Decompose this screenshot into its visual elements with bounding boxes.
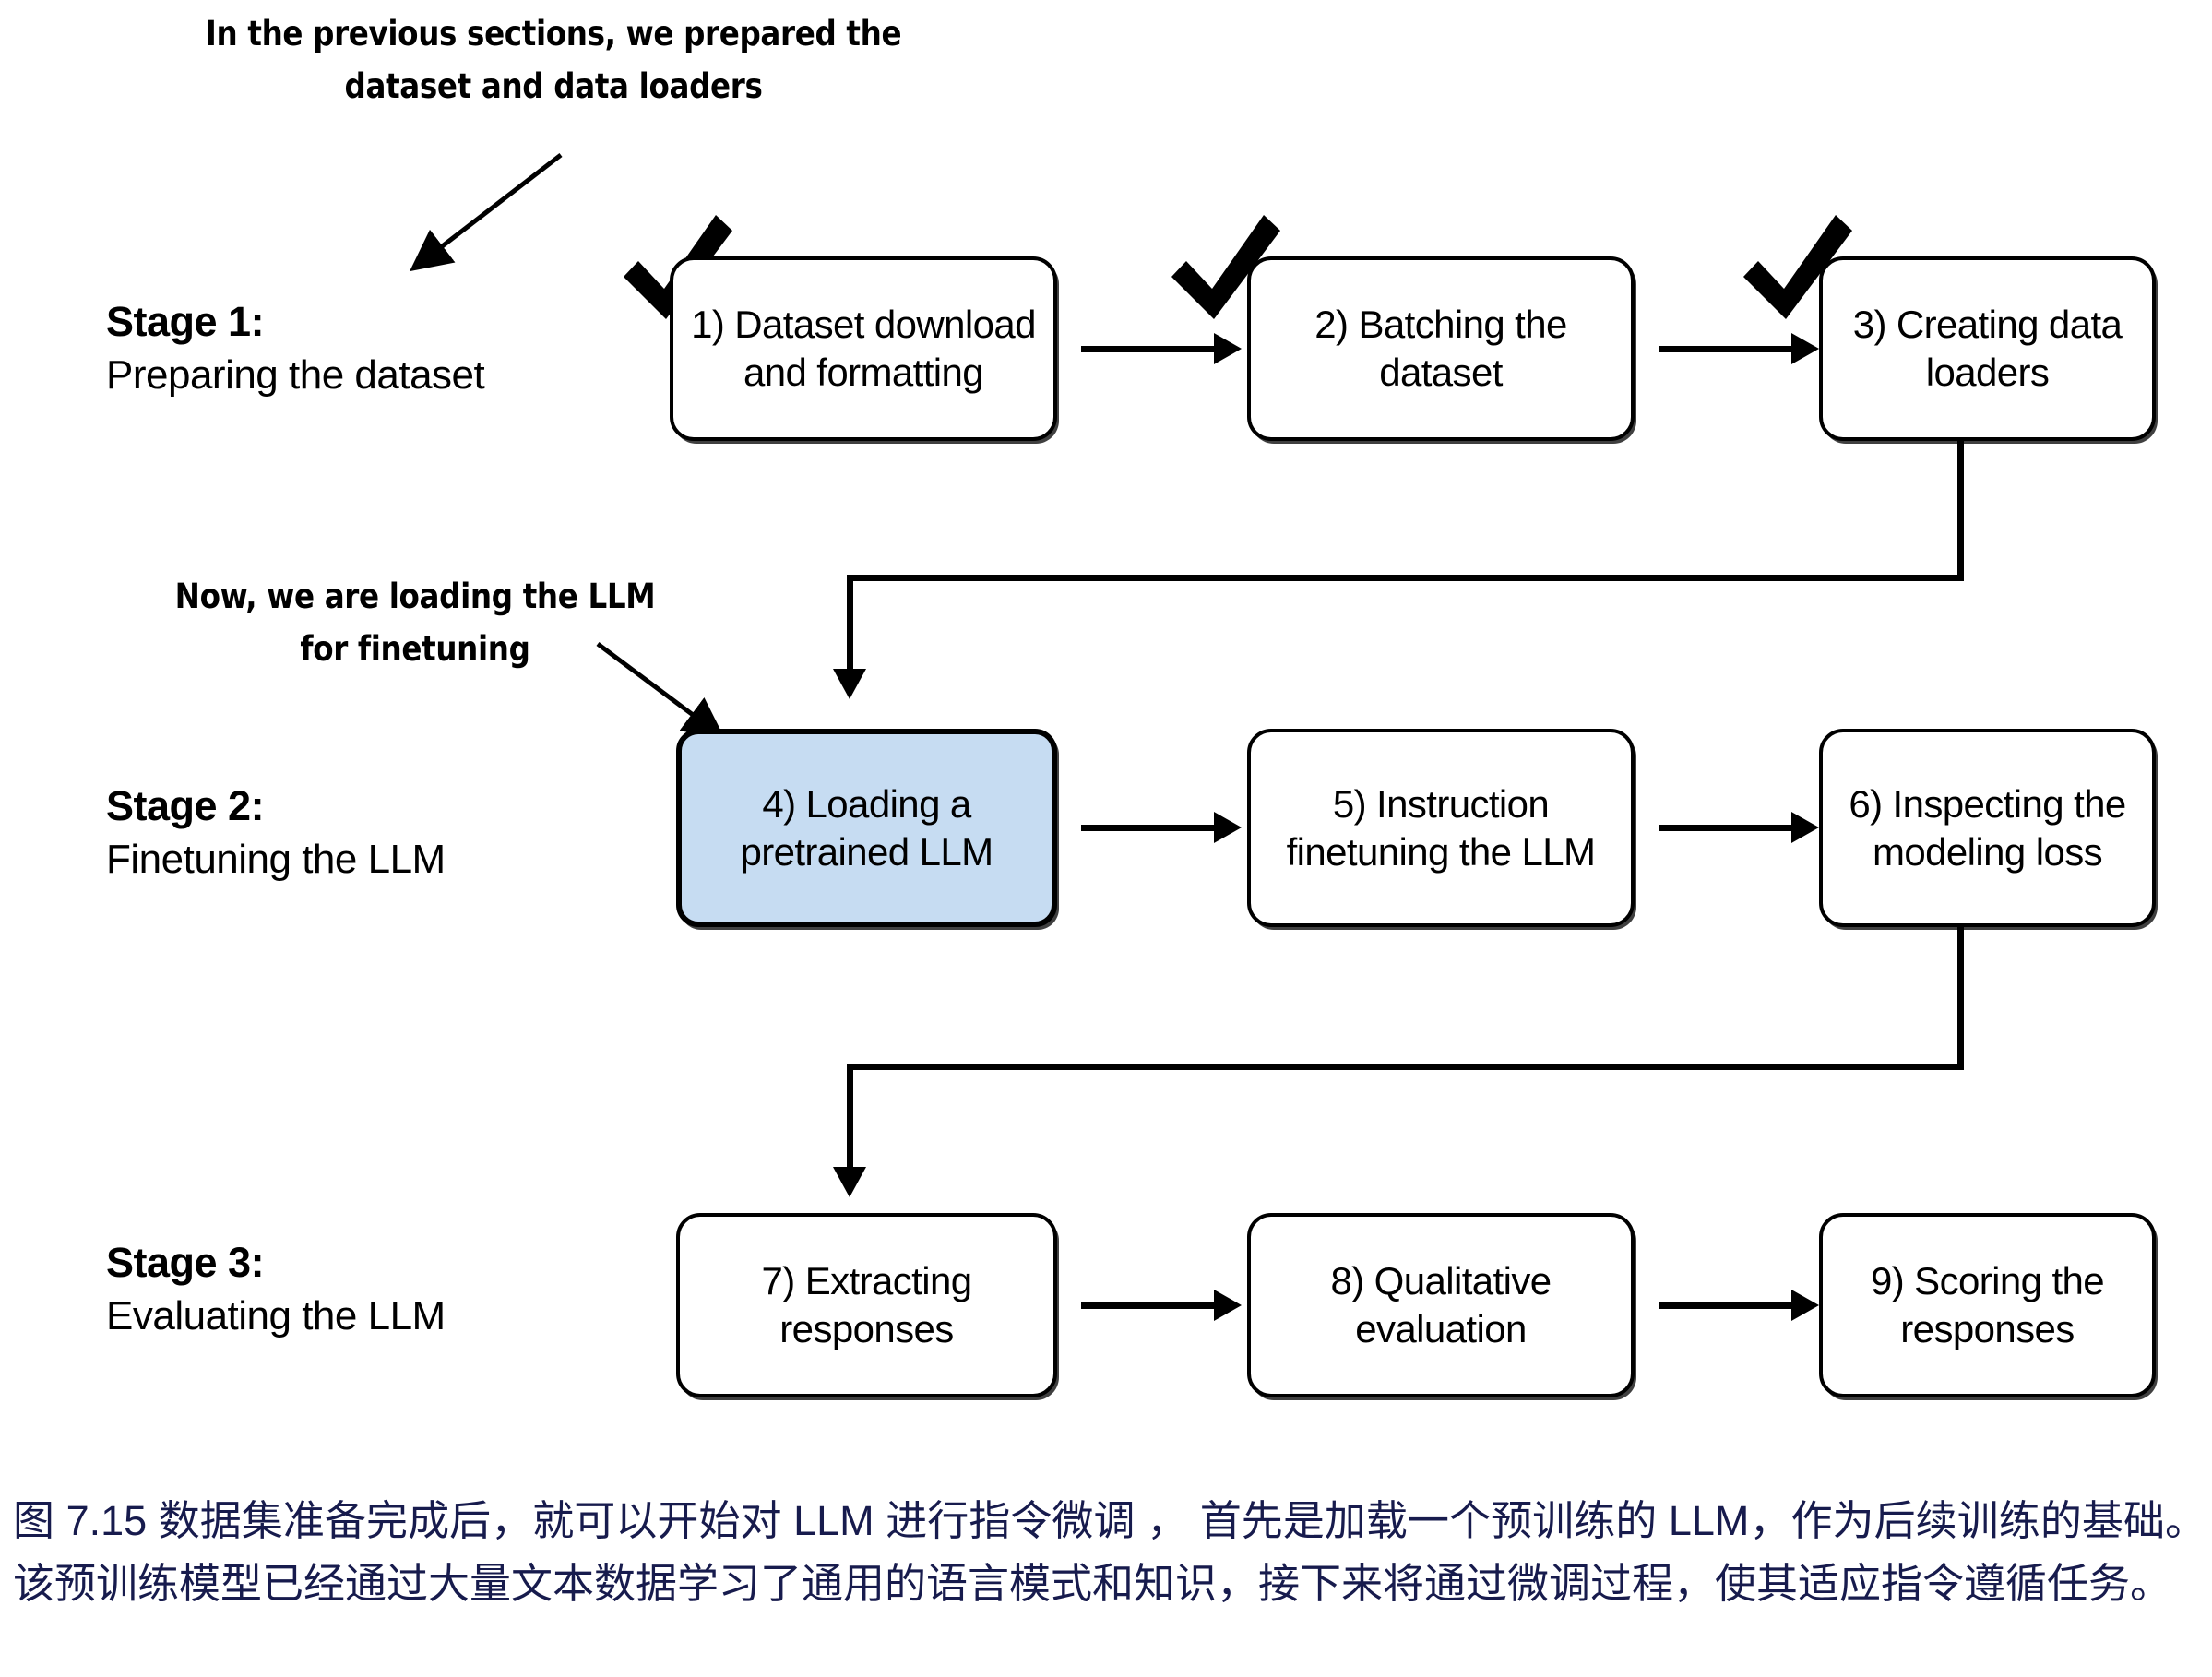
arrow-right-icon xyxy=(1081,346,1219,352)
loading-llm-note-line-1: Now, we are loading the LLM xyxy=(148,570,684,623)
stage-1-label: Stage 1: Preparing the dataset xyxy=(106,295,623,402)
arrow-right-icon xyxy=(1081,1302,1219,1309)
node-2-batching-the-dataset[interactable]: 2) Batching the dataset xyxy=(1247,256,1635,441)
stage-3-title: Stage 3: xyxy=(106,1236,623,1290)
figure-canvas: In the previous sections, we prepared th… xyxy=(0,0,2212,1677)
connector-stage1-to-stage2-horizontal xyxy=(847,575,1964,581)
node-1-dataset-download-and-formatting[interactable]: 1) Dataset download and formatting xyxy=(670,256,1057,441)
node-7-extracting-responses[interactable]: 7) Extracting responses xyxy=(676,1213,1057,1397)
node-9-scoring-the-responses[interactable]: 9) Scoring the responses xyxy=(1819,1213,2156,1397)
arrow-right-head-icon xyxy=(1214,333,1242,364)
pointer-arrow-icon xyxy=(387,148,572,286)
node-3-creating-data-loaders[interactable]: 3) Creating data loaders xyxy=(1819,256,2156,441)
arrow-right-head-icon xyxy=(1791,812,1819,843)
node-1-label: 1) Dataset download and formatting xyxy=(683,301,1044,397)
node-5-label: 5) Instruction finetuning the LLM xyxy=(1260,780,1622,876)
connector-stage1-to-stage2-vertical-left xyxy=(847,575,853,676)
node-6-label: 6) Inspecting the modeling loss xyxy=(1832,780,2143,876)
stage-3-label: Stage 3: Evaluating the LLM xyxy=(106,1236,623,1343)
connector-stage2-to-stage3-vertical-left xyxy=(847,1064,853,1174)
connector-stage2-to-stage3-horizontal xyxy=(847,1064,1964,1070)
arrow-right-head-icon xyxy=(1214,812,1242,843)
arrow-right-head-icon xyxy=(1791,333,1819,364)
stage-1-title: Stage 1: xyxy=(106,295,623,349)
arrow-right-icon xyxy=(1081,825,1219,831)
connector-stage1-to-stage2-vertical-right xyxy=(1957,441,1964,581)
arrow-right-icon xyxy=(1659,825,1797,831)
arrow-down-icon xyxy=(833,1167,866,1197)
arrow-right-icon xyxy=(1659,1302,1797,1309)
stage-3-subtitle: Evaluating the LLM xyxy=(106,1290,623,1343)
node-7-label: 7) Extracting responses xyxy=(689,1257,1044,1353)
previous-sections-note-line-1: In the previous sections, we prepared th… xyxy=(196,7,910,60)
arrow-right-head-icon xyxy=(1214,1290,1242,1321)
figure-caption: 图 7.15 数据集准备完成后，就可以开始对 LLM 进行指令微调 ， 首先是加… xyxy=(13,1490,2206,1615)
previous-sections-note-line-2: dataset and data loaders xyxy=(196,60,910,113)
stage-1-subtitle: Preparing the dataset xyxy=(106,349,623,402)
arrow-right-head-icon xyxy=(1791,1290,1819,1321)
node-6-inspecting-the-modeling-loss[interactable]: 6) Inspecting the modeling loss xyxy=(1819,729,2156,927)
stage-2-title: Stage 2: xyxy=(106,779,623,833)
arrow-down-icon xyxy=(833,669,866,699)
arrow-right-icon xyxy=(1659,346,1797,352)
node-2-label: 2) Batching the dataset xyxy=(1260,301,1622,397)
node-8-qualitative-evaluation[interactable]: 8) Qualitative evaluation xyxy=(1247,1213,1635,1397)
stage-2-subtitle: Finetuning the LLM xyxy=(106,833,623,886)
node-9-label: 9) Scoring the responses xyxy=(1832,1257,2143,1353)
stage-2-label: Stage 2: Finetuning the LLM xyxy=(106,779,623,886)
node-5-instruction-finetuning-the-llm[interactable]: 5) Instruction finetuning the LLM xyxy=(1247,729,1635,927)
connector-stage2-to-stage3-vertical-right xyxy=(1957,927,1964,1070)
previous-sections-note: In the previous sections, we prepared th… xyxy=(196,7,910,113)
node-3-label: 3) Creating data loaders xyxy=(1832,301,2143,397)
node-4-label: 4) Loading a pretrained LLM xyxy=(691,780,1042,876)
node-4-loading-a-pretrained-llm[interactable]: 4) Loading a pretrained LLM xyxy=(676,729,1057,927)
node-8-label: 8) Qualitative evaluation xyxy=(1260,1257,1622,1353)
